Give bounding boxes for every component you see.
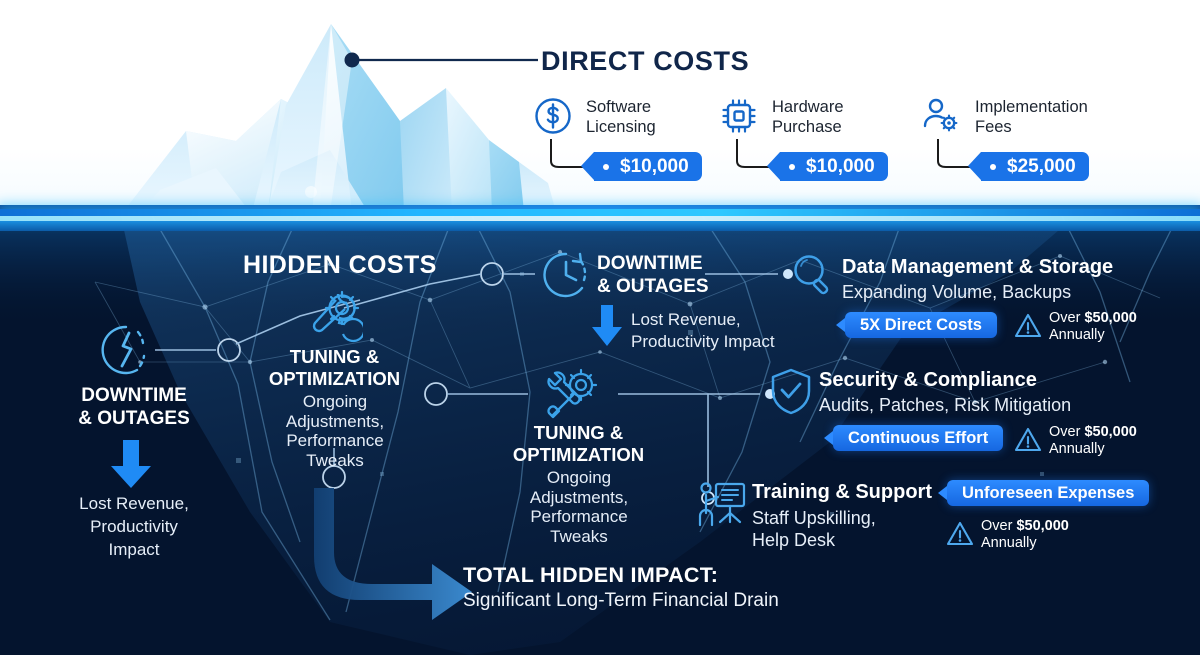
center-node-sub-line2: Adjustments, [254,412,416,432]
left-node-sub-line1: Lost Revenue, [58,492,210,515]
direct-cost-label-line1: Software [586,97,656,117]
row-warn-line2: Annually [1049,441,1137,458]
shield-check-icon [768,367,814,417]
hidden-costs-title: HIDDEN COSTS [243,251,437,280]
price-tag-software[interactable]: $10,000 [594,152,702,181]
warning-triangle-icon [946,520,974,548]
cpu-chip-icon [719,96,759,136]
mid-downtime-head-line2: & OUTAGES [597,275,709,298]
magnifier-icon [791,252,837,298]
mid-tuning-sub-line4: Tweaks [498,527,660,547]
row-warn-line2: Annually [1049,327,1137,344]
direct-cost-label-line1: Implementation [975,97,1088,117]
row-warn-amount: $50,000 [1084,310,1136,326]
below-water-section: HIDDEN COSTS DOWNTIME & OUTAGES Lost Rev… [0,212,1200,655]
mid-downtime-head-line1: DOWNTIME [597,252,709,275]
mid-tuning-sub-line3: Performance [498,507,660,527]
mid-downtime-sub-line2: Productivity Impact [631,331,775,353]
center-node-head-line1: TUNING & [256,346,413,368]
direct-costs-leader-line [340,48,550,72]
direct-cost-label-line1: Hardware [772,97,844,117]
row-warn-prefix: Over [1049,424,1084,440]
down-arrow-icon [589,304,625,348]
total-impact-subheading: Significant Long-Term Financial Drain [463,590,779,612]
broken-clock-icon [98,322,154,378]
row-warn-amount: $50,000 [1016,518,1068,534]
badge-unforeseen-expenses[interactable]: Unforeseen Expenses [947,480,1149,506]
left-node-sub-line2: Productivity [58,515,210,538]
left-node-sub-line3: Impact [58,538,210,561]
down-arrow-icon [107,438,155,490]
mid-tuning-head-line2: OPTIMIZATION [500,444,657,466]
row-warn-prefix: Over [981,518,1016,534]
row-subtitle-training-line1: Staff Upskilling, [752,507,876,529]
infographic-canvas: DIRECT COSTS Software Licensing $10,000 [0,0,1200,655]
presenter-board-icon [696,479,748,531]
clock-refresh-icon [541,250,591,300]
center-node-sub-line3: Performance [254,431,416,451]
direct-cost-label-line2: Fees [975,117,1088,137]
row-warn-line2: Annually [981,535,1069,552]
price-tag-implementation[interactable]: $25,000 [981,152,1089,181]
direct-cost-label-line2: Licensing [586,117,656,137]
mid-tuning-sub-line2: Adjustments, [498,488,660,508]
badge-5x-direct-costs[interactable]: 5X Direct Costs [845,312,997,338]
center-node-head-line2: OPTIMIZATION [256,368,413,390]
user-gear-icon [920,95,962,137]
total-impact-heading: TOTAL HIDDEN IMPACT: [463,563,718,588]
price-tag-hardware[interactable]: $10,000 [780,152,888,181]
wrench-gear-icon [305,287,363,345]
mid-tuning-sub-line1: Ongoing [498,468,660,488]
mid-tuning-head-line1: TUNING & [500,422,657,444]
row-subtitle-security: Audits, Patches, Risk Mitigation [819,395,1071,416]
row-title-security: Security & Compliance [819,369,1037,392]
badge-continuous-effort[interactable]: Continuous Effort [833,425,1003,451]
row-title-data-management: Data Management & Storage [842,256,1113,279]
warning-triangle-icon [1014,312,1042,340]
wrench-screwdriver-gear-icon [543,367,601,423]
warning-triangle-icon [1014,426,1042,454]
row-warn-prefix: Over [1049,310,1084,326]
waterline-divider [0,205,1200,231]
left-node-head-line2: & OUTAGES [70,407,198,430]
row-subtitle-training-line2: Help Desk [752,529,876,551]
row-warn-amount: $50,000 [1084,424,1136,440]
center-node-sub-line1: Ongoing [254,392,416,412]
direct-cost-label-line2: Purchase [772,117,844,137]
row-title-training: Training & Support [752,481,932,504]
direct-costs-title: DIRECT COSTS [541,46,749,77]
center-node-sub-line4: Tweaks [254,451,416,471]
dollar-circle-icon [533,96,573,136]
mid-downtime-sub-line1: Lost Revenue, [631,309,775,331]
row-subtitle-data-management: Expanding Volume, Backups [842,282,1071,303]
left-node-head-line1: DOWNTIME [70,384,198,407]
above-water-section: DIRECT COSTS Software Licensing $10,000 [0,0,1200,212]
